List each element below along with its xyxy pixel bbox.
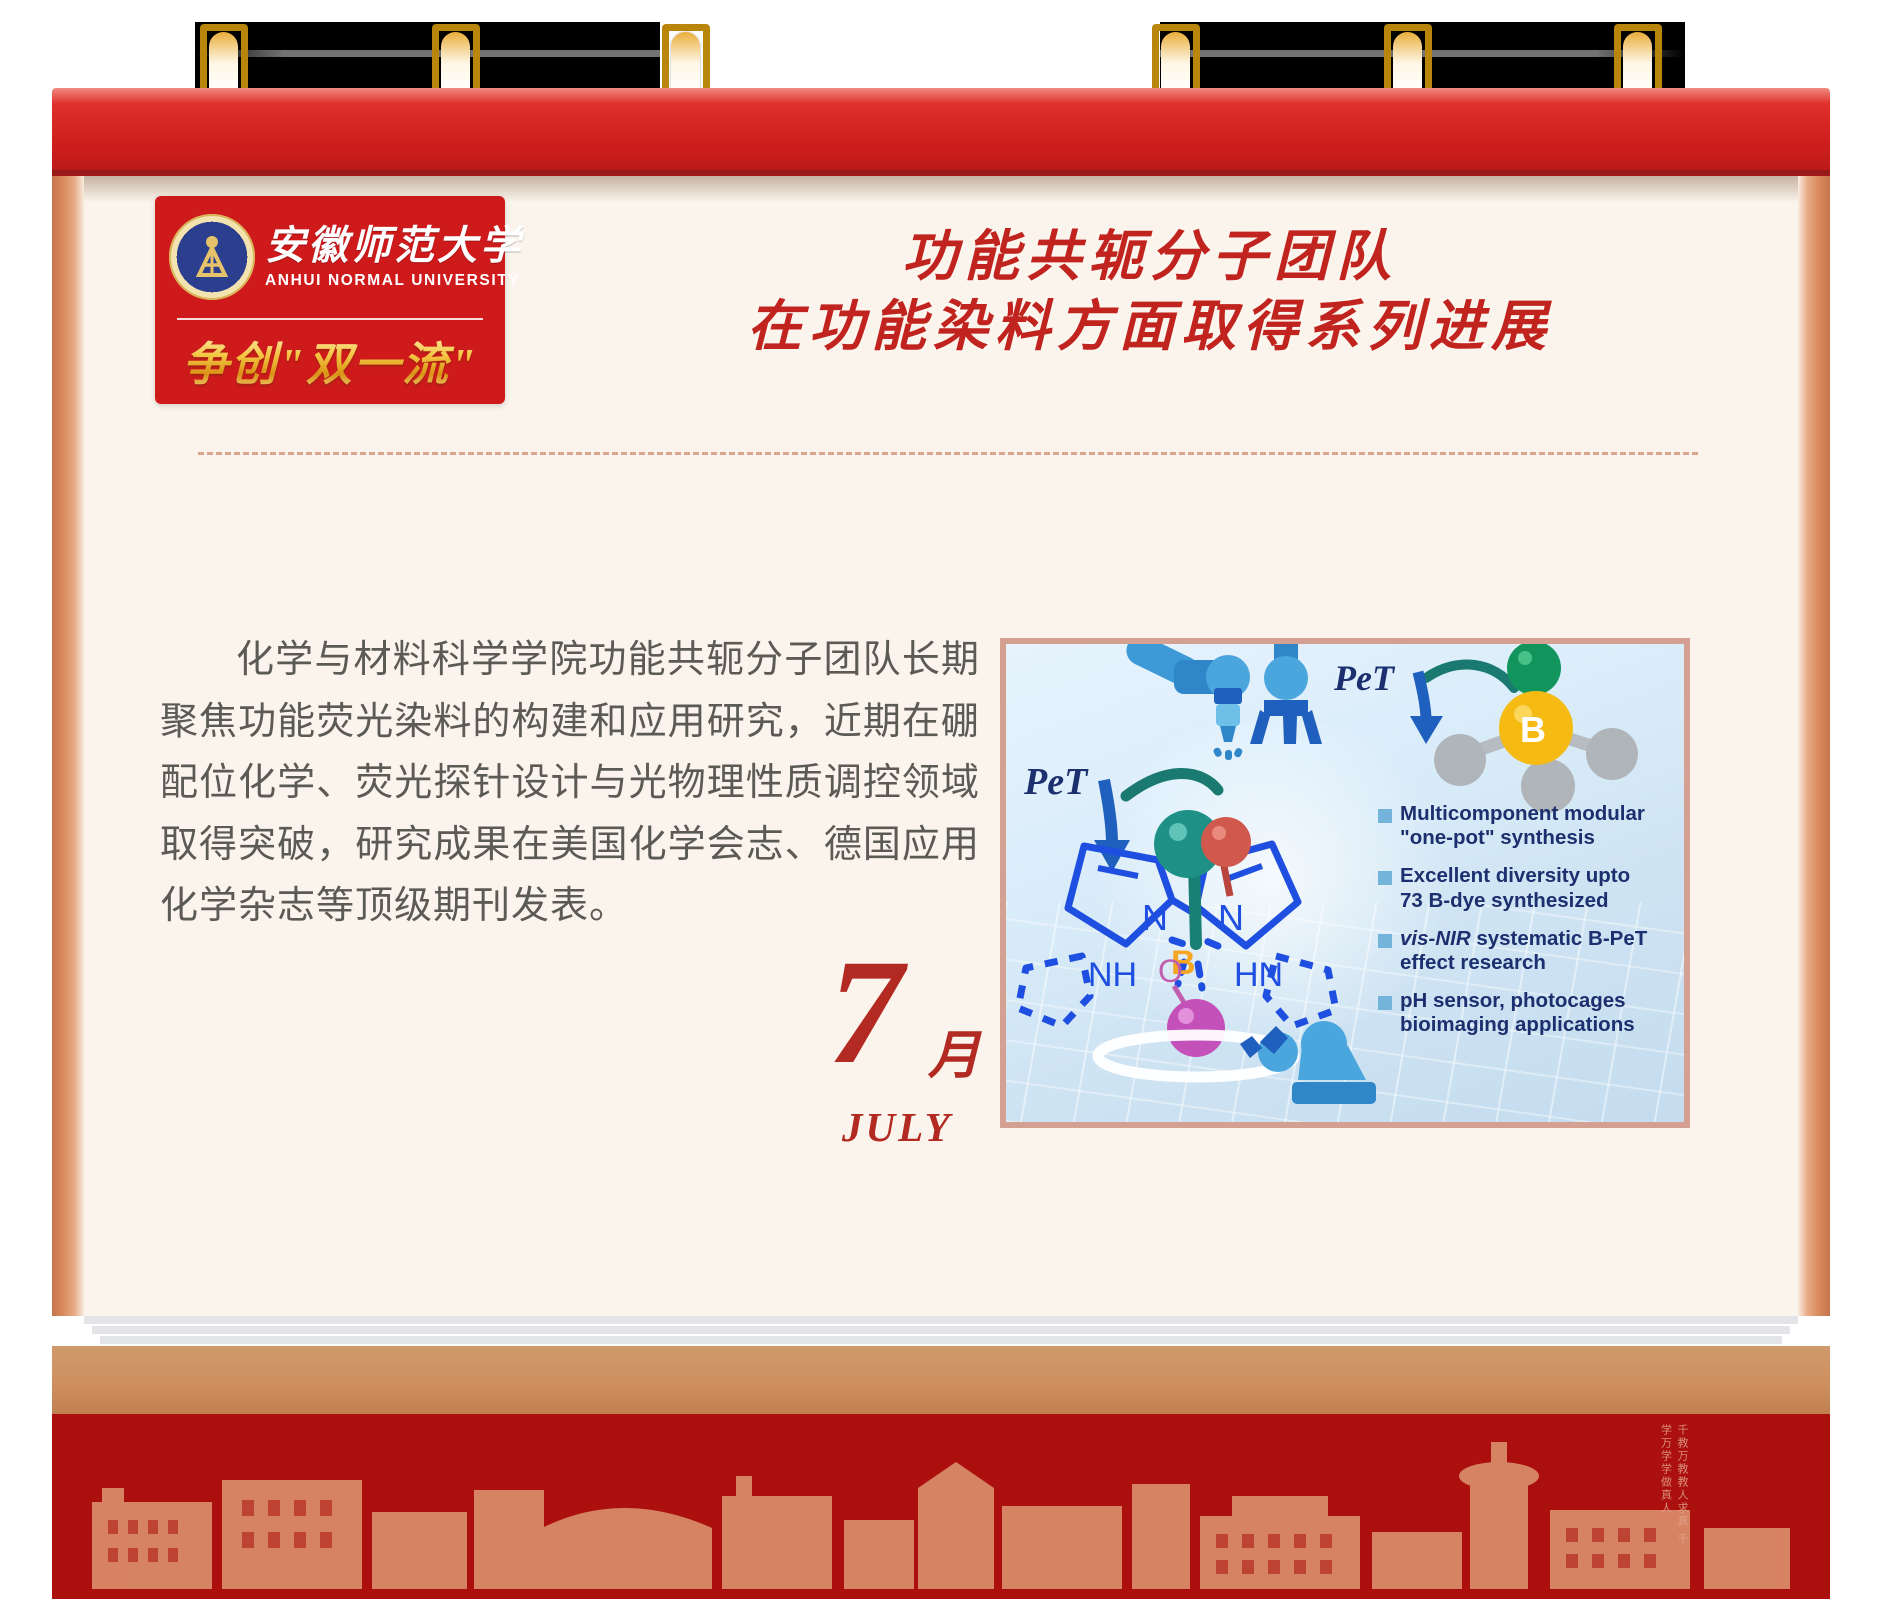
bullet-line-1: pH sensor, photocages (1400, 989, 1626, 1012)
university-badge: 安徽师范大学 ANHUI NORMAL UNIVERSITY 争创"双一流" (155, 196, 505, 404)
bullet-line-2: effect research (1400, 951, 1546, 974)
binder-gap (660, 22, 1160, 89)
page-right-edge (1798, 176, 1830, 1316)
date-number: 7 (828, 937, 903, 1087)
list-item: vis-NIR systematic B-PeT effect research (1378, 927, 1678, 975)
bullet-text: pH sensor, photocages bioimaging applica… (1400, 989, 1635, 1037)
bullet-line-2: bioimaging applications (1400, 1013, 1635, 1036)
bullet-text: vis-NIR systematic B-PeT effect research (1400, 927, 1647, 975)
seal-emblem-icon (186, 231, 238, 283)
dashed-divider (198, 452, 1698, 455)
university-name: 安徽师范大学 ANHUI NORMAL UNIVERSITY (265, 226, 523, 289)
badge-divider (177, 318, 483, 320)
date-month-cn: 月 (928, 1013, 980, 1088)
badge-logo-row: 安徽师范大学 ANHUI NORMAL UNIVERSITY (169, 214, 523, 300)
bullet-square-icon (1378, 809, 1392, 823)
bullet-line-1: Excellent diversity upto (1400, 864, 1630, 887)
list-item: pH sensor, photocages bioimaging applica… (1378, 989, 1678, 1037)
calendar-poster: 安徽师范大学 ANHUI NORMAL UNIVERSITY 争创"双一流" 功… (0, 0, 1880, 1607)
list-item: Excellent diversity upto 73 B-dye synthe… (1378, 864, 1678, 912)
robot-arm-base-icon (1240, 1021, 1376, 1104)
bullet-line-1: systematic B-PeT (1471, 927, 1648, 950)
robot-gripper-icon (1250, 644, 1322, 744)
list-item: Multicomponent modular "one-pot" synthes… (1378, 802, 1678, 850)
page-title: 功能共轭分子团队 在功能染料方面取得系列进展 (560, 222, 1740, 363)
boron-label-right: B (1520, 709, 1546, 750)
headline-line-1: 功能共轭分子团队 (560, 222, 1740, 292)
nitrogen-label-right: N (1218, 897, 1244, 938)
bullet-line-2: 73 B-dye synthesized (1400, 889, 1609, 912)
page-stack-2 (92, 1326, 1790, 1334)
bullet-text: Excellent diversity upto 73 B-dye synthe… (1400, 864, 1630, 912)
page-stack-1 (84, 1316, 1798, 1324)
badge-slogan: 争创"双一流" (155, 328, 505, 394)
university-name-cn: 安徽师范大学 (265, 226, 523, 266)
robot-arm-icon (1121, 644, 1250, 760)
amine-label-right: HN (1234, 956, 1283, 994)
article-paragraph: 化学与材料科学学院功能共轭分子团队长期聚焦功能荧光染料的构建和应用研究，近期在硼… (160, 630, 980, 938)
bullet-square-icon (1378, 871, 1392, 885)
campus-skyline-illustration: 千教万教教人求真 千学万学学做真人 (72, 1424, 1810, 1589)
bullet-text: Multicomponent modular "one-pot" synthes… (1400, 802, 1645, 850)
pet-label-right: PeT (1333, 658, 1396, 698)
date-block: 7 月 JULY (828, 955, 1008, 1115)
article-body: 化学与材料科学学院功能共轭分子团队长期聚焦功能荧光染料的构建和应用研究，近期在硼… (160, 630, 980, 938)
footer-motto: 千教万教教人求真 千学万学学做真人 (1657, 1424, 1690, 1555)
date-month-en: JULY (842, 1103, 953, 1151)
page-stack-3 (100, 1336, 1782, 1344)
red-substituent-icon (1201, 817, 1251, 896)
bullet-line-1: Multicomponent modular (1400, 802, 1645, 825)
bullet-line-2: "one-pot" synthesis (1400, 826, 1595, 849)
nitrogen-label-left: N (1142, 897, 1168, 938)
university-seal-icon (169, 214, 255, 300)
oxygen-label: O (1158, 953, 1183, 989)
research-figure: PeT N N (1000, 638, 1690, 1128)
header-red-band (52, 88, 1830, 176)
bullet-square-icon (1378, 996, 1392, 1010)
amine-label-left: NH (1088, 956, 1137, 994)
bullet-emphasis: vis-NIR (1400, 927, 1471, 950)
calendar-base-wood (52, 1346, 1830, 1414)
figure-bullet-list: Multicomponent modular "one-pot" synthes… (1378, 802, 1678, 1052)
bullet-square-icon (1378, 934, 1392, 948)
pet-arrow-right-icon (1410, 665, 1514, 744)
pet-label-left: PeT (1023, 761, 1089, 803)
page-left-edge (52, 176, 84, 1316)
skyline-graphic (72, 1424, 1810, 1589)
headline-line-2: 在功能染料方面取得系列进展 (560, 292, 1740, 362)
university-name-en: ANHUI NORMAL UNIVERSITY (265, 273, 523, 289)
